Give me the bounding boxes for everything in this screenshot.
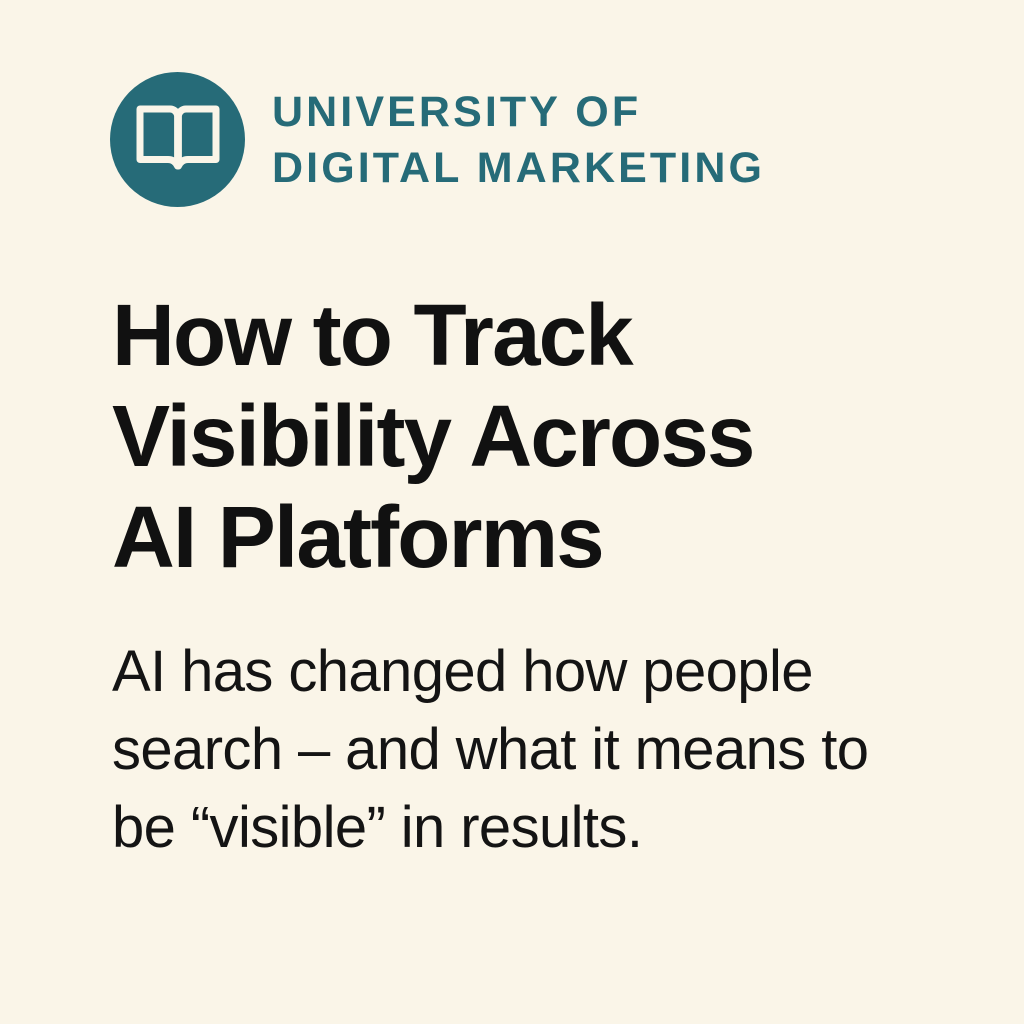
headline-line-3: AI Platforms bbox=[112, 487, 972, 588]
headline-line-1: How to Track bbox=[112, 285, 972, 386]
open-book-icon bbox=[136, 103, 220, 177]
brand-logo-mark bbox=[110, 72, 245, 207]
headline-line-2: Visibility Across bbox=[112, 386, 972, 487]
brand-line-2: DIGITAL MARKETING bbox=[272, 140, 765, 196]
subtitle-line-1: AI has changed how people bbox=[112, 633, 992, 711]
subtitle-line-3: be “visible” in results. bbox=[112, 789, 992, 867]
subtitle: AI has changed how people search – and w… bbox=[112, 633, 992, 867]
subtitle-line-2: search – and what it means to bbox=[112, 711, 992, 789]
brand-wordmark: UNIVERSITY OF DIGITAL MARKETING bbox=[272, 72, 765, 196]
headline: How to Track Visibility Across AI Platfo… bbox=[112, 285, 972, 588]
brand-line-1: UNIVERSITY OF bbox=[272, 84, 765, 140]
social-card: UNIVERSITY OF DIGITAL MARKETING How to T… bbox=[0, 0, 1024, 1024]
brand-lockup: UNIVERSITY OF DIGITAL MARKETING bbox=[110, 72, 765, 207]
